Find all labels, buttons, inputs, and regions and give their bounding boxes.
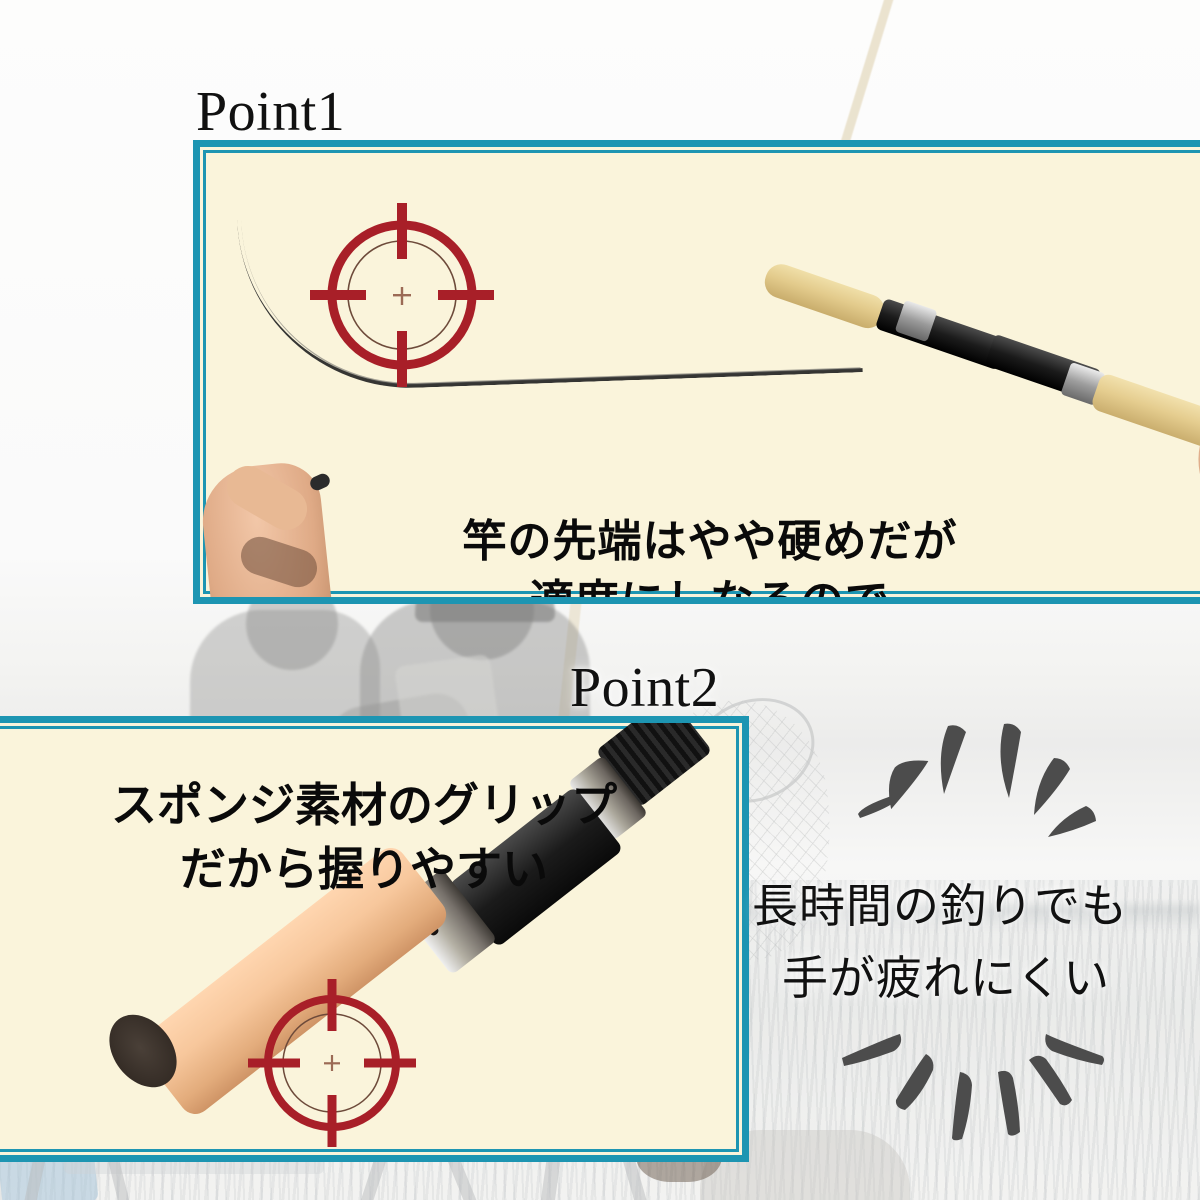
- radiating-burst-icon: [812, 1030, 1112, 1160]
- point1-text-line1: 竿の先端はやや硬めだが: [200, 515, 1200, 569]
- point2-text-line2: だから握りやすい: [0, 841, 742, 897]
- point1-label: Point1: [196, 84, 345, 140]
- promo-banner: Point1: [0, 0, 1200, 1200]
- callout-text-line2: 手が疲れにくい: [782, 950, 1110, 1008]
- point1-panel: 竿の先端はやや硬めだが 適度にしなるので 魚の当たりが感じ取りやすい: [193, 140, 1200, 604]
- rod-rear-grip: [1090, 372, 1200, 450]
- point2-text-line1: スポンジ素材のグリップ: [0, 777, 742, 833]
- point2-label: Point2: [570, 660, 719, 716]
- point1-text-line2: 適度にしなるので: [200, 575, 1200, 604]
- radiating-burst-icon: [840, 718, 1100, 848]
- point2-panel: スポンジ素材のグリップ だから握りやすい: [0, 716, 749, 1162]
- rod-blank-curve-highlight: [241, 199, 861, 390]
- callout-text-line1: 長時間の釣りでも: [752, 878, 1128, 936]
